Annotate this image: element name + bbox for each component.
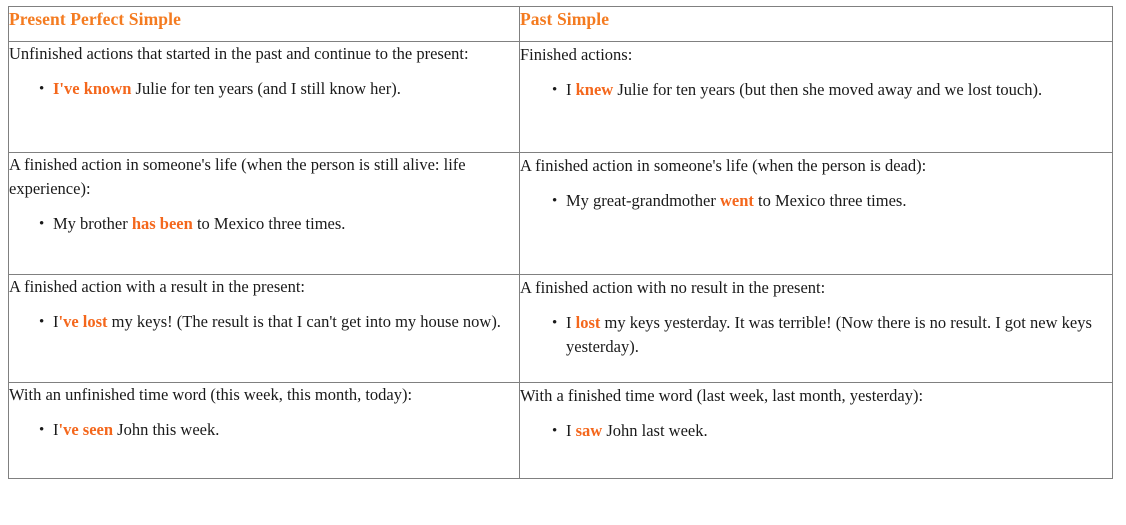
table-row: A finished action with a result in the p… — [9, 275, 1113, 383]
example-prefix: I — [566, 80, 576, 99]
example-list: I lost my keys yesterday. It was terribl… — [520, 311, 1112, 359]
list-item: I've known Julie for ten years (and I st… — [53, 77, 519, 101]
cell-past-simple-4: With a finished time word (last week, la… — [520, 383, 1113, 479]
usage-description: A finished action with a result in the p… — [9, 275, 519, 299]
column-header-label: Past Simple — [520, 9, 609, 29]
list-item: I saw John last week. — [566, 419, 1112, 443]
table-header-row: Present Perfect Simple Past Simple — [9, 7, 1113, 42]
example-suffix: Julie for ten years (and I still know he… — [131, 79, 400, 98]
example-highlight: knew — [576, 80, 614, 99]
usage-description: A finished action in someone's life (whe… — [9, 153, 519, 201]
example-suffix: my keys yesterday. It was terrible! (Now… — [566, 313, 1092, 356]
example-prefix: My brother — [53, 214, 132, 233]
example-highlight: 've lost — [59, 312, 108, 331]
cell-present-perfect-4: With an unfinished time word (this week,… — [9, 383, 520, 479]
cell-past-simple-2: A finished action in someone's life (whe… — [520, 153, 1113, 275]
example-suffix: to Mexico three times. — [193, 214, 346, 233]
example-highlight: went — [720, 191, 754, 210]
usage-description: Unfinished actions that started in the p… — [9, 42, 519, 66]
page-root: Present Perfect Simple Past Simple Unfin… — [0, 0, 1126, 525]
example-suffix: John last week. — [602, 421, 707, 440]
usage-description: A finished action in someone's life (whe… — [520, 153, 1112, 178]
example-highlight: has been — [132, 214, 193, 233]
example-list: My brother has been to Mexico three time… — [9, 212, 519, 236]
column-header-label: Present Perfect Simple — [9, 9, 181, 29]
example-list: I've seen John this week. — [9, 418, 519, 442]
list-item: I've seen John this week. — [53, 418, 519, 442]
cell-past-simple-3: A finished action with no result in the … — [520, 275, 1113, 383]
example-highlight: 've seen — [59, 420, 114, 439]
column-header-present-perfect-simple: Present Perfect Simple — [9, 7, 520, 42]
table-body: Unfinished actions that started in the p… — [9, 42, 1113, 479]
example-suffix: my keys! (The result is that I can't get… — [108, 312, 501, 331]
cell-present-perfect-2: A finished action in someone's life (whe… — [9, 153, 520, 275]
column-header-past-simple: Past Simple — [520, 7, 1113, 42]
example-highlight: saw — [576, 421, 603, 440]
example-highlight: I've known — [53, 79, 131, 98]
example-suffix: Julie for ten years (but then she moved … — [613, 80, 1042, 99]
grammar-comparison-table: Present Perfect Simple Past Simple Unfin… — [8, 6, 1113, 479]
example-highlight: lost — [576, 313, 601, 332]
example-prefix: I — [566, 313, 576, 332]
table-row: Unfinished actions that started in the p… — [9, 42, 1113, 153]
list-item: I knew Julie for ten years (but then she… — [566, 78, 1112, 102]
usage-description: A finished action with no result in the … — [520, 275, 1112, 300]
usage-description: Finished actions: — [520, 42, 1112, 67]
example-suffix: to Mexico three times. — [754, 191, 907, 210]
example-list: I've lost my keys! (The result is that I… — [9, 310, 519, 334]
example-list: I knew Julie for ten years (but then she… — [520, 78, 1112, 102]
example-list: I saw John last week. — [520, 419, 1112, 443]
cell-present-perfect-3: A finished action with a result in the p… — [9, 275, 520, 383]
usage-description: With a finished time word (last week, la… — [520, 383, 1112, 408]
list-item: My brother has been to Mexico three time… — [53, 212, 519, 236]
example-suffix: John this week. — [113, 420, 219, 439]
table-row: A finished action in someone's life (whe… — [9, 153, 1113, 275]
list-item: I lost my keys yesterday. It was terribl… — [566, 311, 1112, 359]
list-item: My great-grandmother went to Mexico thre… — [566, 189, 1112, 213]
example-prefix: I — [566, 421, 576, 440]
table-row: With an unfinished time word (this week,… — [9, 383, 1113, 479]
cell-past-simple-1: Finished actions: I knew Julie for ten y… — [520, 42, 1113, 153]
list-item: I've lost my keys! (The result is that I… — [53, 310, 519, 334]
example-list: My great-grandmother went to Mexico thre… — [520, 189, 1112, 213]
table-header: Present Perfect Simple Past Simple — [9, 7, 1113, 42]
cell-present-perfect-1: Unfinished actions that started in the p… — [9, 42, 520, 153]
example-prefix: My great-grandmother — [566, 191, 720, 210]
example-list: I've known Julie for ten years (and I st… — [9, 77, 519, 101]
usage-description: With an unfinished time word (this week,… — [9, 383, 519, 407]
